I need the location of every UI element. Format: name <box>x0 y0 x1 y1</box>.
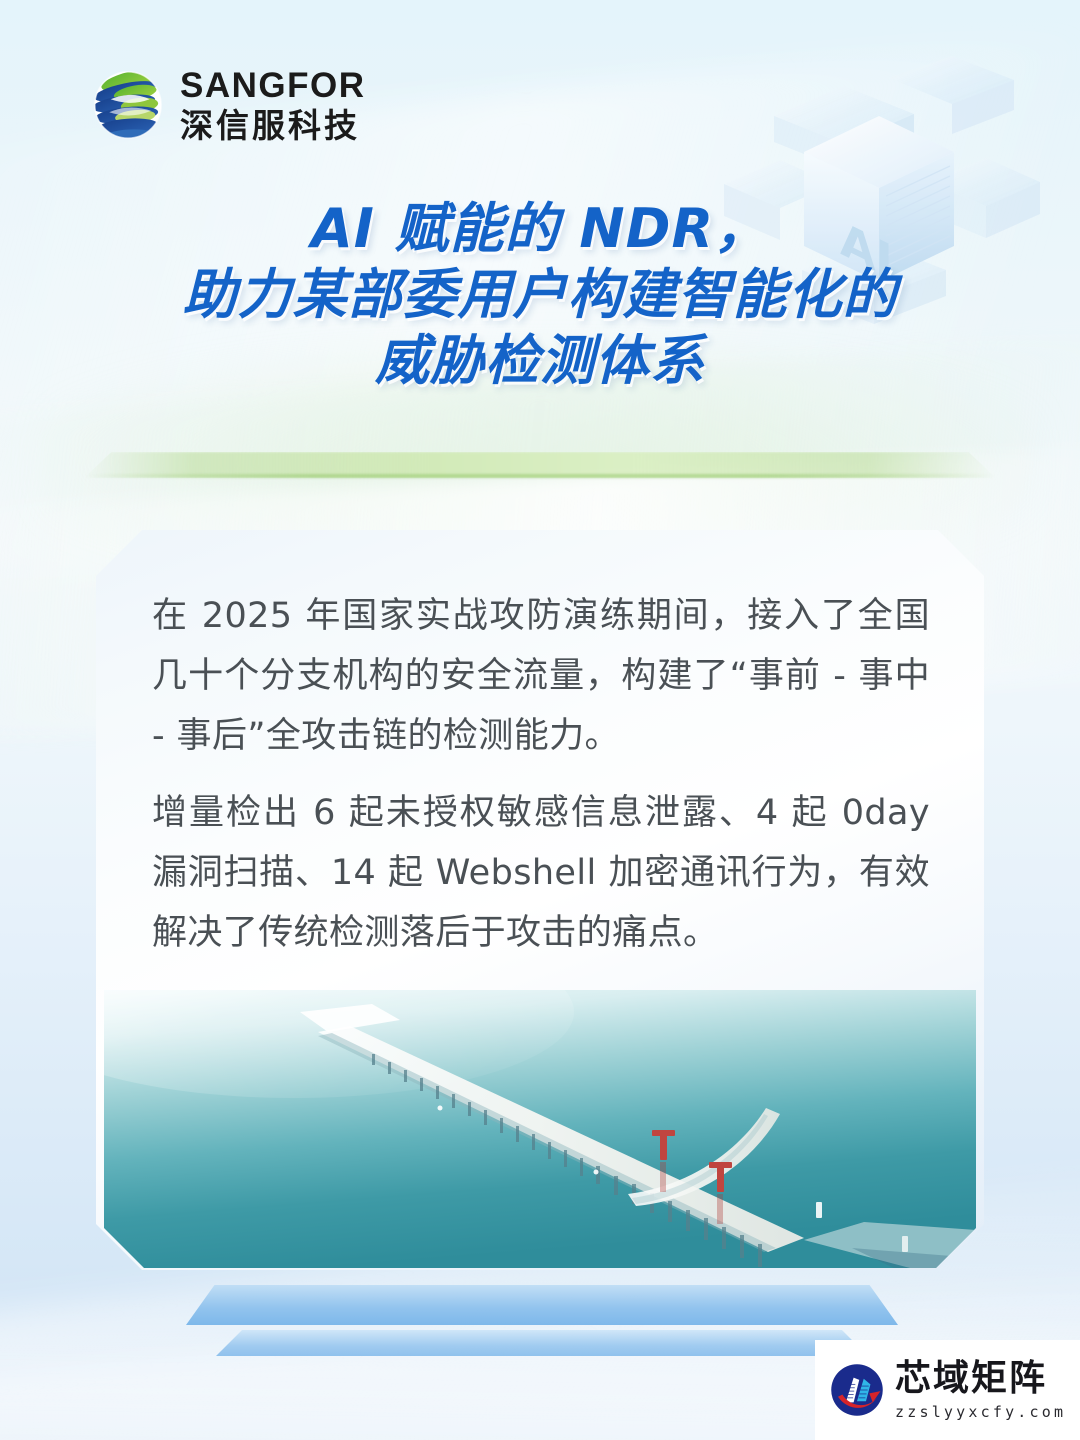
poster-title: AI 赋能的 NDR， 助力某部委用户构建智能化的 威胁检测体系 <box>0 196 1080 394</box>
decorative-band-lower <box>216 1330 868 1356</box>
watermark-name: 芯域矩阵 <box>895 1361 1066 1397</box>
xinyu-juzhen-building-icon <box>829 1362 885 1418</box>
poster-root: SANGFOR 深信服科技 <box>0 0 1080 1440</box>
title-green-divider-edge <box>84 474 996 478</box>
content-paragraph-1: 在 2025 年国家实战攻防演练期间，接入了全国几十个分支机构的安全流量，构建了… <box>152 586 930 767</box>
brand-logo: SANGFOR 深信服科技 <box>92 68 366 142</box>
decorative-band-upper <box>186 1285 898 1325</box>
sangfor-globe-icon <box>92 69 164 141</box>
bridge-photo <box>104 990 976 1268</box>
brand-name-en: SANGFOR <box>180 68 366 103</box>
watermark-logo: 芯域矩阵 zzslyyxcfy.com <box>815 1340 1080 1440</box>
watermark-url: zzslyyxcfy.com <box>895 1405 1066 1420</box>
title-line-3: 威胁检测体系 <box>0 328 1080 394</box>
brand-name-cn: 深信服科技 <box>180 109 366 142</box>
content-paragraph-2: 增量检出 6 起未授权敏感信息泄露、4 起 0day 漏洞扫描、14 起 Web… <box>152 783 930 964</box>
brand-wordmark: SANGFOR 深信服科技 <box>180 68 366 142</box>
watermark-text: 芯域矩阵 zzslyyxcfy.com <box>895 1361 1066 1420</box>
title-line-2: 助力某部委用户构建智能化的 <box>0 262 1080 328</box>
content-card-text: 在 2025 年国家实战攻防演练期间，接入了全国几十个分支机构的安全流量，构建了… <box>152 586 930 963</box>
title-line-1: AI 赋能的 NDR， <box>0 196 1080 262</box>
